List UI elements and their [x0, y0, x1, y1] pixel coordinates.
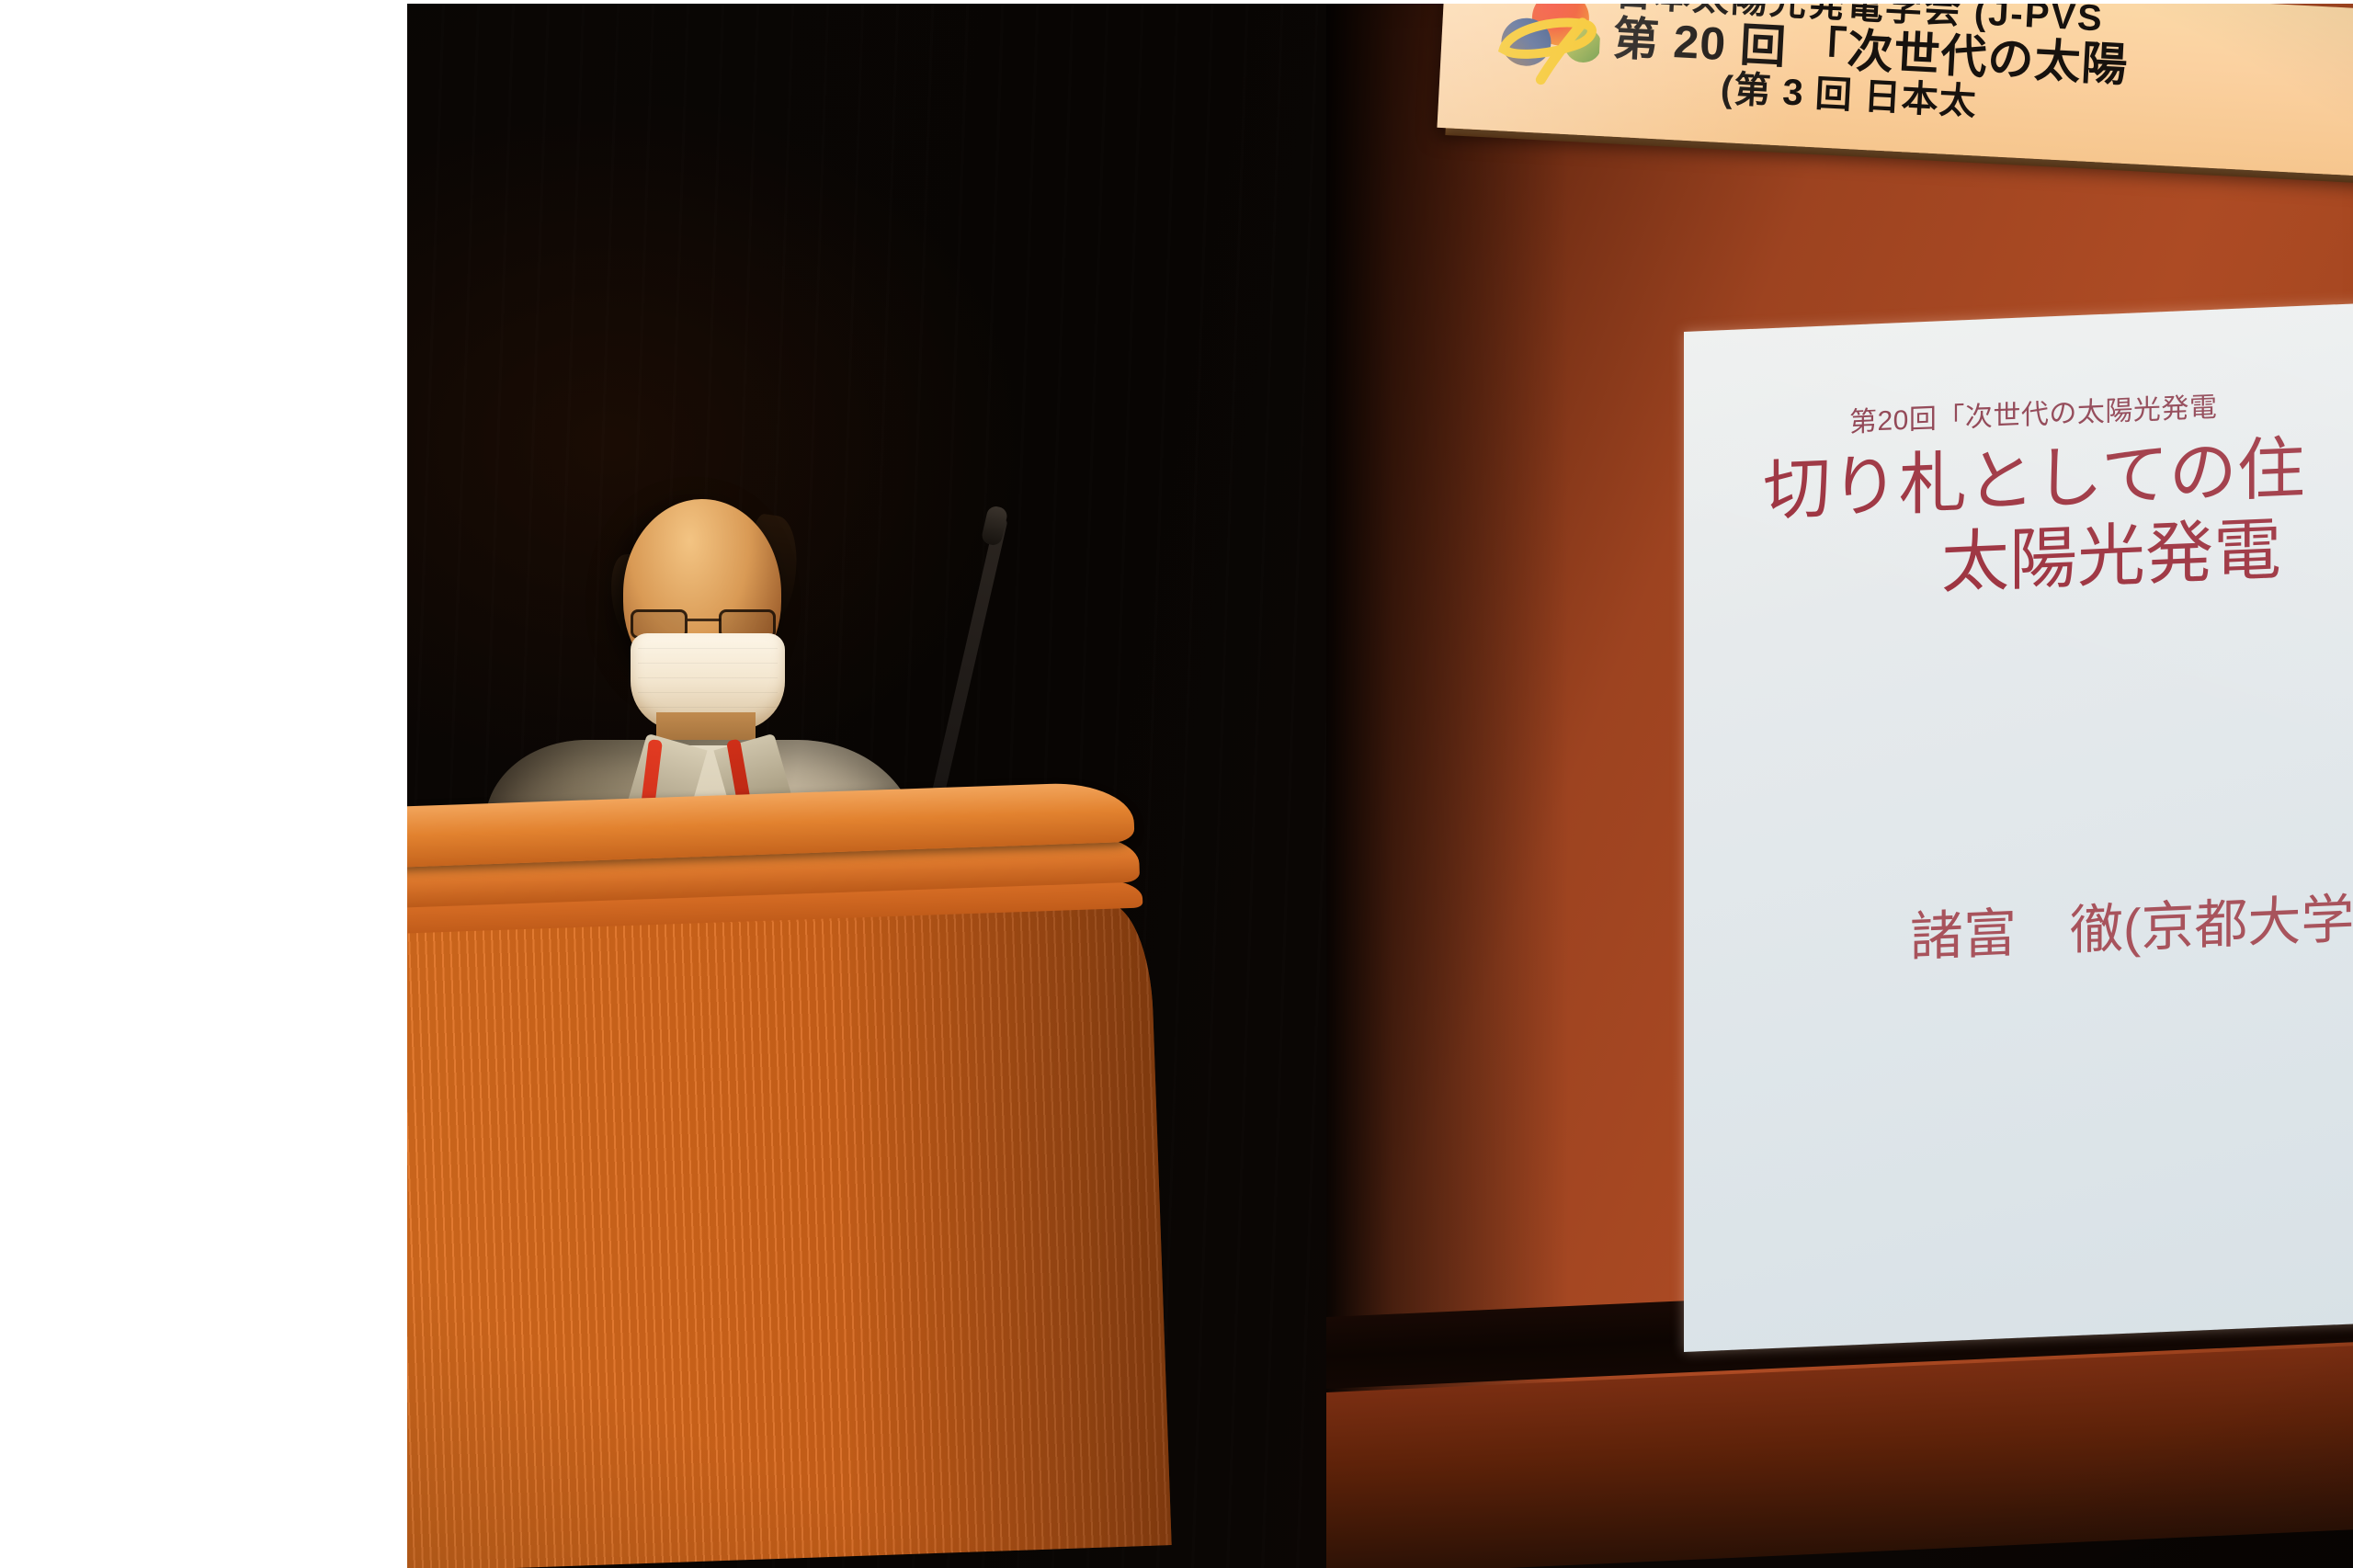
banner-line-1: 日本太陽光発電学会 (J-PVS	[1614, 3, 2353, 54]
j-pvs-logo-icon	[1487, 3, 1603, 96]
presentation-photo-scene: 第20回「次世代の太陽光発電 切り札としての住 太陽光発電 諸富 徹(京都大学	[0, 0, 2353, 1568]
photo-left-margin	[0, 0, 407, 1568]
lectern-shading	[407, 902, 1172, 1568]
photo-top-margin	[407, 0, 2353, 4]
lectern-body	[407, 902, 1172, 1568]
projection-screen: 第20回「次世代の太陽光発電 切り札としての住 太陽光発電 諸富 徹(京都大学	[1684, 301, 2353, 1352]
lectern	[407, 821, 1148, 1568]
slide-author: 諸富 徹(京都大学	[1910, 887, 2353, 968]
glasses-bridge	[688, 619, 721, 621]
banner-text-block: 日本太陽光発電学会 (J-PVS 第 20 回 「次世代の太陽 (第 3 回 日…	[1609, 3, 2353, 144]
photograph: 第20回「次世代の太陽光発電 切り札としての住 太陽光発電 諸富 徹(京都大学	[407, 3, 2353, 1568]
banner-line-2: 第 20 回 「次世代の太陽	[1612, 16, 2353, 104]
banner-line-3: (第 3 回 日本太	[1720, 71, 2353, 144]
slide-content: 第20回「次世代の太陽光発電 切り札としての住 太陽光発電 諸富 徹(京都大学	[1684, 301, 2353, 1352]
